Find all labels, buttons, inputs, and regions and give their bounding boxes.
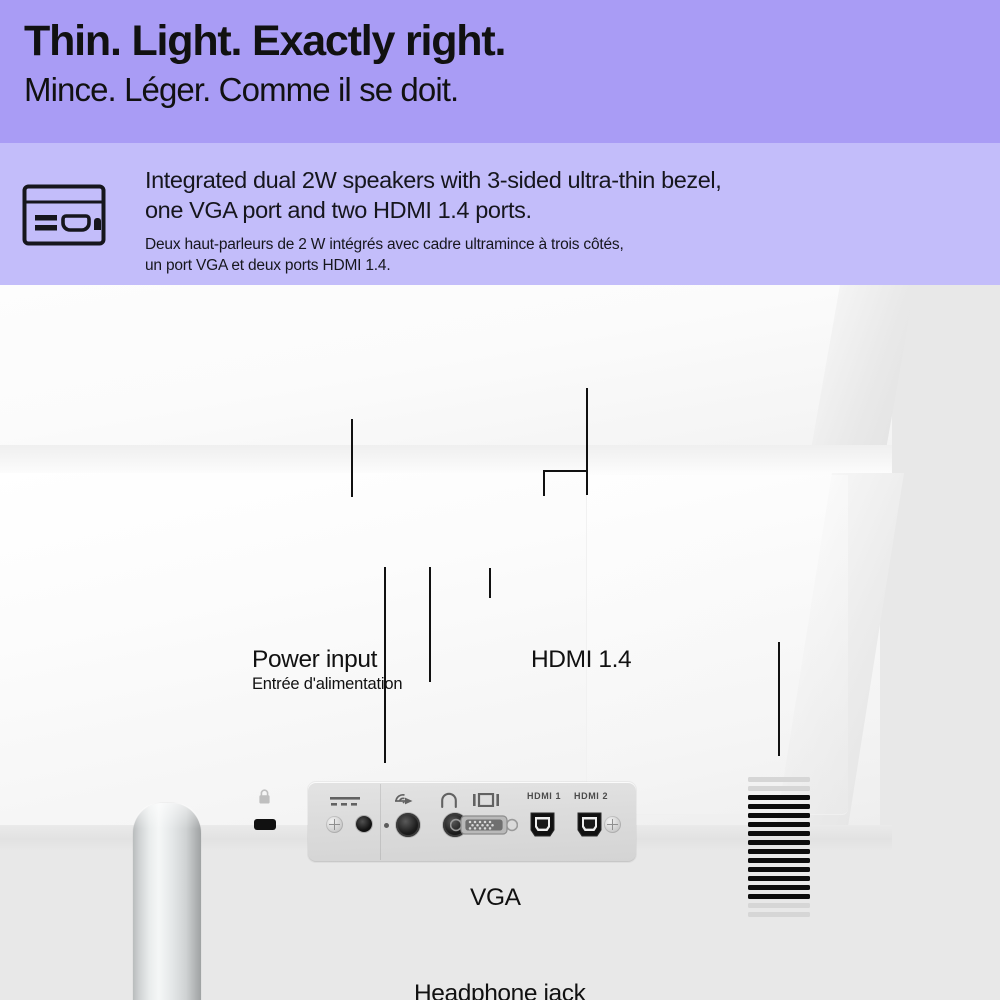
panel-divider — [380, 784, 381, 860]
monitor-ports-icon — [22, 184, 106, 246]
security-lock-slot — [254, 819, 276, 830]
dc-power-icon — [330, 795, 360, 813]
headline-french: Mince. Léger. Comme il se doit. — [24, 73, 458, 106]
leader-hdmi-left — [543, 470, 545, 496]
microphone-icon — [392, 792, 416, 815]
dc-power-jack — [356, 816, 372, 832]
feature-fr-line2: un port VGA et deux ports HDMI 1.4. — [145, 255, 945, 276]
microphone-jack — [396, 813, 420, 837]
feature-band: Integrated dual 2W speakers with 3-sided… — [0, 143, 1000, 285]
hdmi-port-1 — [526, 808, 559, 841]
callout-vga-title: VGA — [470, 883, 521, 912]
infographic-page: Thin. Light. Exactly right. Mince. Léger… — [0, 0, 1000, 1000]
feature-en-line1: Integrated dual 2W speakers with 3-sided… — [145, 165, 945, 195]
callout-vga: VGA — [470, 883, 521, 912]
callout-power-sub: Entrée d'alimentation — [252, 674, 402, 695]
monitor-step-ledge — [0, 445, 892, 475]
hdmi-1-label: HDMI 1 — [527, 791, 561, 801]
leader-power — [351, 419, 353, 497]
headline-english: Thin. Light. Exactly right. — [24, 20, 505, 63]
callout-power-input: Power input Entrée d'alimentation — [252, 645, 402, 695]
callout-hdmi-title: HDMI 1.4 — [531, 645, 631, 674]
port-panel: HDMI 1 HDMI 2 — [308, 782, 636, 862]
speaker-vent-grille — [748, 777, 810, 925]
hdmi-2-label: HDMI 2 — [574, 791, 608, 801]
leader-hdmi-cross — [543, 470, 587, 472]
panel-screw-right — [604, 816, 621, 833]
monitor-stand-column — [133, 803, 201, 1000]
monitor-rear-upper-shell — [0, 285, 892, 468]
panel-screw-left — [326, 816, 343, 833]
callout-power-title: Power input — [252, 645, 402, 674]
callout-headphone-jack: Headphone jack Prise pour écouteurs — [414, 979, 585, 1000]
vga-port — [450, 810, 518, 840]
feature-text-block: Integrated dual 2W speakers with 3-sided… — [145, 165, 945, 276]
power-led-indicator — [384, 823, 389, 828]
leader-vga — [489, 568, 491, 598]
callout-hdmi: HDMI 1.4 — [531, 645, 631, 674]
product-photo: HDMI 1 HDMI 2 — [0, 285, 1000, 1000]
leader-headphone — [429, 567, 431, 682]
hdmi-port-2 — [573, 808, 606, 841]
header-band: Thin. Light. Exactly right. Mince. Léger… — [0, 0, 1000, 143]
feature-en-line2: one VGA port and two HDMI 1.4 ports. — [145, 195, 945, 225]
callout-headphone-title: Headphone jack — [414, 979, 585, 1000]
feature-fr-line1: Deux haut-parleurs de 2 W intégrés avec … — [145, 234, 945, 255]
leader-speakers — [778, 642, 780, 756]
padlock-icon — [258, 789, 271, 804]
leader-hdmi-stem — [586, 388, 588, 495]
